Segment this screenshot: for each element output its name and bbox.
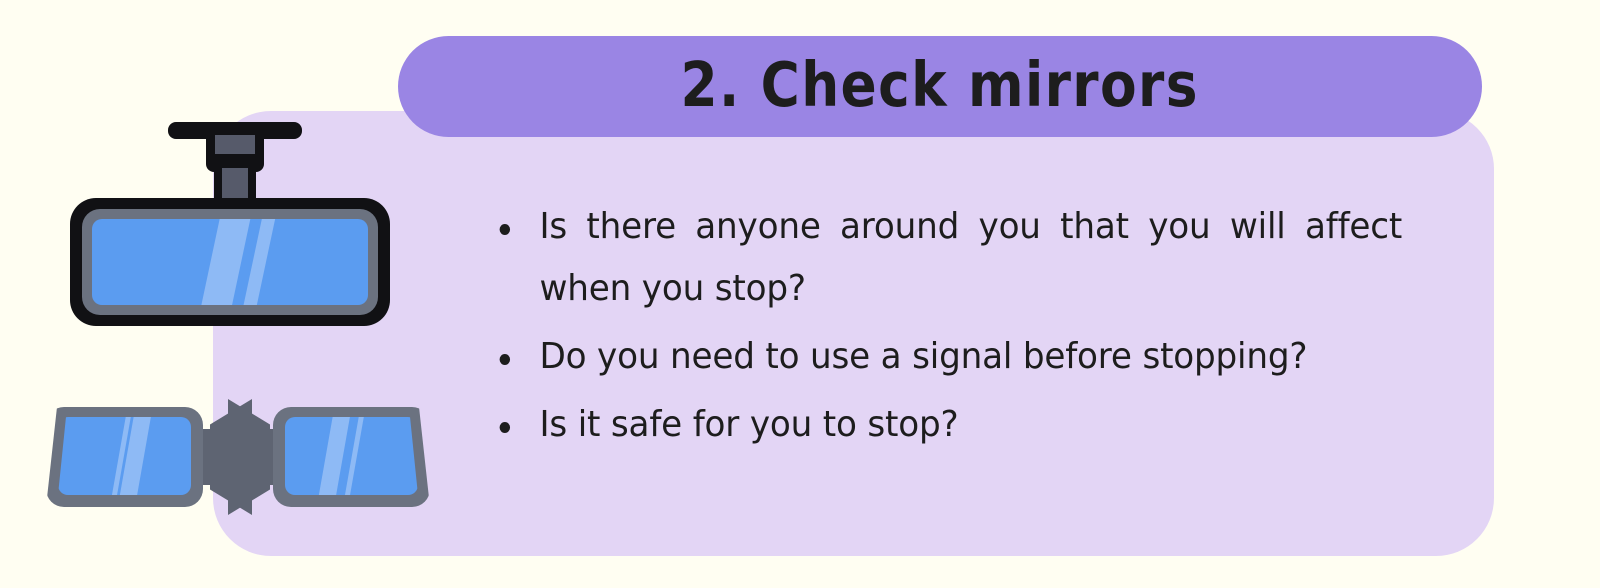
left-side-mirror-glass — [58, 417, 191, 495]
list-item: Do you need to use a signal before stopp… — [492, 326, 1402, 388]
glass-highlight-wide — [197, 219, 253, 305]
mirror-mount-connector-inner-icon — [215, 135, 255, 154]
list-item: Is there anyone around you that you will… — [492, 196, 1402, 320]
rearview-mirror-glass — [92, 219, 368, 305]
page-title: 2. Check mirrors — [681, 54, 1199, 120]
checklist: Is there anyone around you that you will… — [492, 196, 1450, 462]
slide-canvas: 2. Check mirrors Is there anyone around … — [0, 0, 1600, 588]
right-side-mirror-glass — [285, 417, 418, 495]
section-title-banner: 2. Check mirrors — [398, 36, 1482, 137]
list-item: Is it safe for you to stop? — [492, 394, 1402, 456]
